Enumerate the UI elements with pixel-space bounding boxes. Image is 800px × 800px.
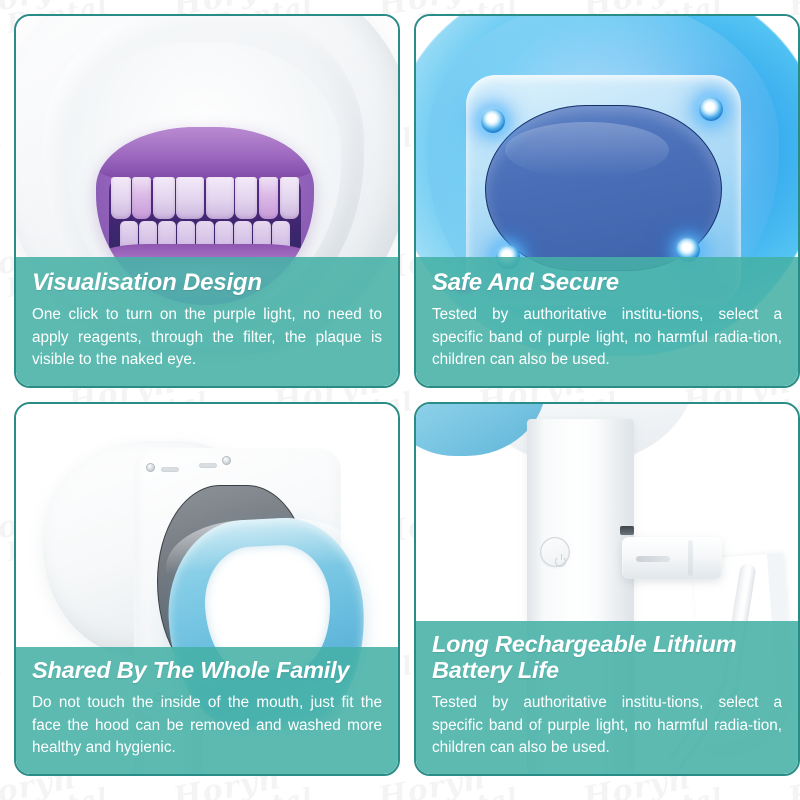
led-indicator [481, 109, 505, 133]
screw-icon [146, 463, 155, 472]
tooth [176, 177, 204, 220]
usb-icon [636, 556, 670, 562]
card-title: Safe And Secure [432, 270, 782, 296]
feature-card-safe-and-secure[interactable]: Safe And Secure Tested by authoritative … [414, 14, 800, 388]
mount-slot [161, 467, 179, 472]
mount-slot [199, 463, 217, 468]
tooth [132, 177, 151, 220]
card-body-text: Tested by authoritative institu-tions, s… [432, 692, 782, 760]
charging-port [620, 526, 634, 535]
card-title: Shared By The Whole Family [32, 658, 382, 684]
feature-card-visualisation-design[interactable]: Visualisation Design One click to turn o… [14, 14, 400, 388]
tooth [111, 177, 130, 220]
caption-panel: Shared By The Whole Family Do not touch … [16, 647, 398, 774]
tooth [206, 177, 234, 220]
usb-plug-connector [622, 537, 722, 579]
screw-icon [222, 456, 231, 465]
card-title: Visualisation Design [32, 270, 382, 296]
caption-panel: Long Rechargeable Lithium Battery Life T… [416, 621, 798, 774]
feature-card-long-rechargeable-lithium-battery-life[interactable]: Long Rechargeable Lithium Battery Life T… [414, 402, 800, 776]
card-body-text: Do not touch the inside of the mouth, ju… [32, 692, 382, 760]
feature-card-grid: Visualisation Design One click to turn o… [0, 0, 800, 800]
caption-panel: Safe And Secure Tested by authoritative … [416, 257, 798, 386]
tooth [153, 177, 175, 220]
card-body-text: Tested by authoritative institu-tions, s… [432, 304, 782, 372]
caption-panel: Visualisation Design One click to turn o… [16, 257, 398, 386]
tooth [280, 177, 299, 220]
tooth [259, 177, 278, 220]
feature-card-shared-by-the-whole-family[interactable]: Shared By The Whole Family Do not touch … [14, 402, 400, 776]
upper-teeth-row [111, 177, 298, 220]
card-body-text: One click to turn on the purple light, n… [32, 304, 382, 372]
led-indicator [699, 97, 723, 121]
tooth [235, 177, 257, 220]
card-title: Long Rechargeable Lithium Battery Life [432, 632, 782, 684]
